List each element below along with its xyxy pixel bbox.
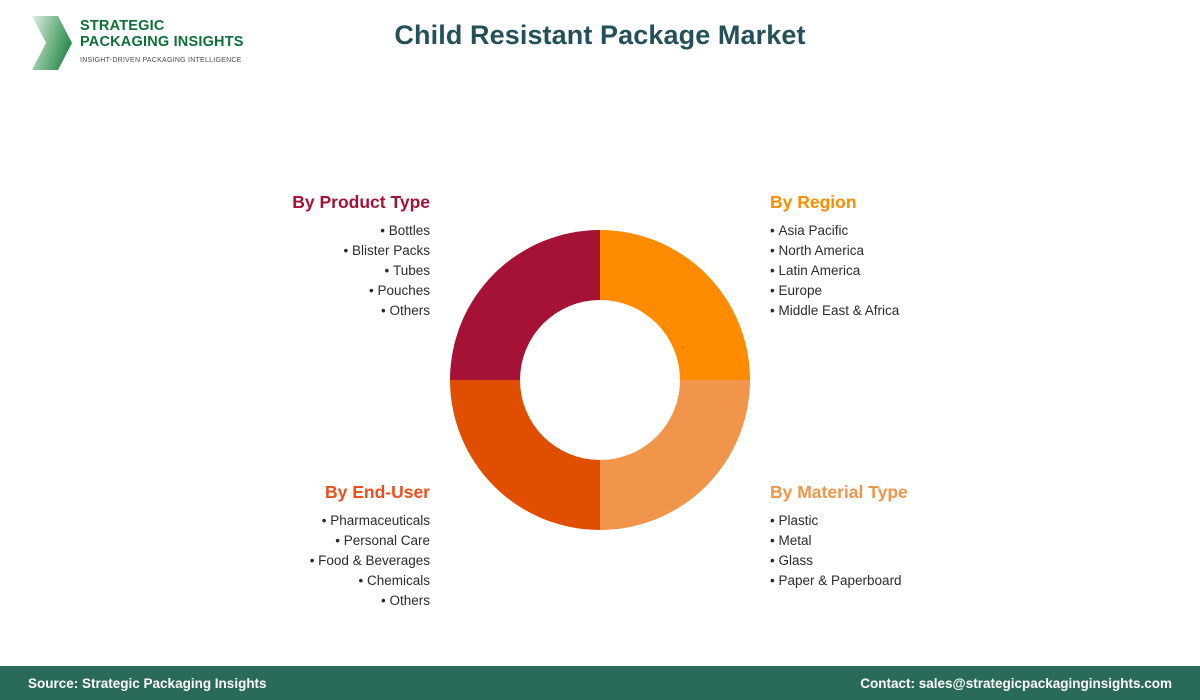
- list-item: Others: [150, 301, 430, 321]
- donut-chart: [450, 230, 750, 530]
- list-item: Plastic: [770, 511, 1070, 531]
- footer-bar: Source: Strategic Packaging Insights Con…: [0, 666, 1200, 700]
- list-item: Pouches: [150, 281, 430, 301]
- list-item: Personal Care: [130, 531, 430, 551]
- legend-list-product-type: Bottles Blister Packs Tubes Pouches Othe…: [150, 221, 430, 321]
- list-item: Metal: [770, 531, 1070, 551]
- legend-block-material-type: By Material Type Plastic Metal Glass Pap…: [770, 482, 1070, 591]
- list-item: Glass: [770, 551, 1070, 571]
- list-item: Bottles: [150, 221, 430, 241]
- list-item: Asia Pacific: [770, 221, 1070, 241]
- legend-block-region: By Region Asia Pacific North America Lat…: [770, 192, 1070, 321]
- list-item: Blister Packs: [150, 241, 430, 261]
- legend-list-material-type: Plastic Metal Glass Paper & Paperboard: [770, 511, 1070, 591]
- donut-chart-svg: [450, 230, 750, 530]
- legend-block-product-type: By Product Type Bottles Blister Packs Tu…: [150, 192, 430, 321]
- list-item: Food & Beverages: [130, 551, 430, 571]
- footer-contact[interactable]: Contact: sales@strategicpackaginginsight…: [860, 676, 1172, 691]
- list-item: Pharmaceuticals: [130, 511, 430, 531]
- chart-area: By Product Type Bottles Blister Packs Tu…: [0, 0, 1200, 660]
- list-item: Chemicals: [130, 571, 430, 591]
- list-item: Latin America: [770, 261, 1070, 281]
- list-item: Others: [130, 591, 430, 611]
- legend-title-product-type: By Product Type: [150, 192, 430, 213]
- legend-title-material-type: By Material Type: [770, 482, 1070, 503]
- list-item: Europe: [770, 281, 1070, 301]
- legend-list-end-user: Pharmaceuticals Personal Care Food & Bev…: [130, 511, 430, 611]
- legend-title-region: By Region: [770, 192, 1070, 213]
- legend-list-region: Asia Pacific North America Latin America…: [770, 221, 1070, 321]
- list-item: Tubes: [150, 261, 430, 281]
- list-item: Paper & Paperboard: [770, 571, 1070, 591]
- donut-center-hole: [520, 300, 680, 460]
- legend-block-end-user: By End-User Pharmaceuticals Personal Car…: [130, 482, 430, 611]
- list-item: Middle East & Africa: [770, 301, 1070, 321]
- list-item: North America: [770, 241, 1070, 261]
- legend-title-end-user: By End-User: [130, 482, 430, 503]
- footer-source: Source: Strategic Packaging Insights: [28, 676, 267, 691]
